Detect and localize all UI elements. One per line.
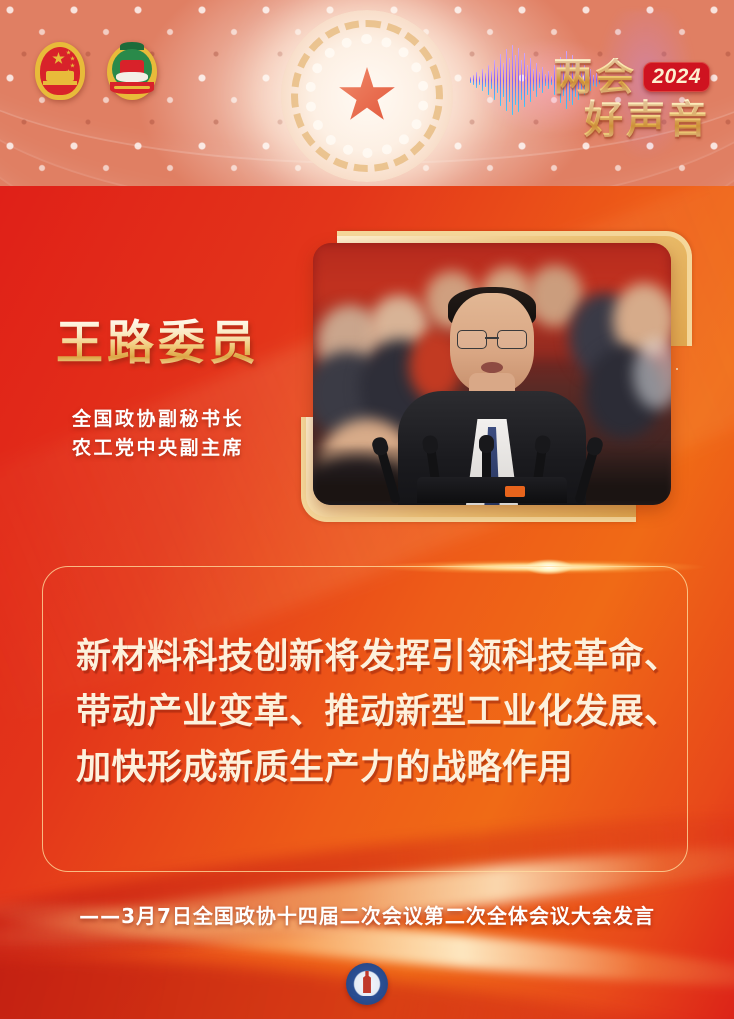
program-logo: 两会 2024 好声音	[553, 58, 710, 140]
speaker-photo-block	[313, 243, 671, 505]
poster-root: 两会 2024 好声音 王路委员 全国政协副秘书长 农工党中央副主席	[0, 0, 734, 1019]
speaker-title-2: 农工党中央副主席	[72, 434, 244, 463]
logo-line2: 好声音	[584, 98, 710, 143]
podium-name-plate	[505, 486, 525, 497]
speaker-title-1: 全国政协副秘书长	[72, 405, 244, 434]
year-badge-2024: 2024	[643, 62, 710, 92]
cppcc-emblem-icon	[104, 38, 160, 108]
emblem-group	[32, 38, 160, 108]
logo-line1: 两会	[553, 58, 637, 97]
national-emblem-icon	[32, 38, 88, 108]
speaker-titles: 全国政协副秘书长 农工党中央副主席	[72, 405, 244, 462]
media-logo-icon	[346, 963, 388, 1005]
ceiling-star-medallion-icon	[281, 10, 453, 182]
quote-line-1: 新材料科技创新将发挥引领科技革命、	[76, 630, 676, 685]
speaker-mouth	[481, 362, 503, 373]
quote-text: 新材料科技创新将发挥引领科技革命、 带动产业变革、推动新型工业化发展、 加快形成…	[76, 630, 676, 796]
quote-line-3: 加快形成新质生产力的战略作用	[76, 741, 676, 796]
speaker-glasses-icon	[457, 330, 527, 347]
speaker-name: 王路委员	[56, 318, 260, 370]
microphone-group	[382, 429, 602, 503]
source-caption: ——3月7日全国政协十四届二次会议第二次全体会议大会发言	[0, 900, 734, 929]
quote-line-2: 带动产业变革、推动新型工业化发展、	[76, 685, 676, 740]
red-star-icon	[338, 67, 396, 125]
speaker-photo	[313, 243, 671, 505]
